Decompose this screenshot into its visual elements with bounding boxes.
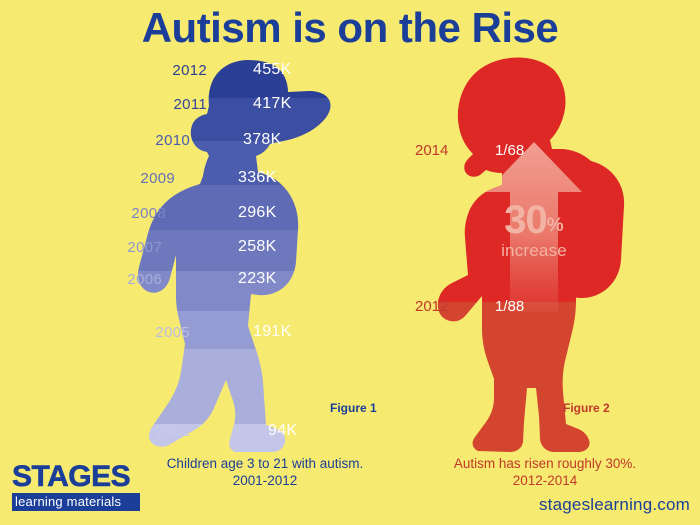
value-label-378k: 378K	[243, 131, 282, 149]
band-2006	[0, 311, 400, 349]
year-label-2008: 2008	[104, 205, 166, 222]
value-label-258k: 258K	[238, 238, 277, 256]
year-label-2014: 2014	[415, 142, 448, 159]
year-label-2001: 2001	[128, 423, 190, 440]
value-label-191k: 191K	[253, 323, 292, 341]
year-label-2007: 2007	[100, 239, 162, 256]
band-2010	[0, 141, 400, 185]
band-2007	[0, 271, 400, 311]
year-label-2012: 2012	[145, 62, 207, 79]
value-label-296k: 296K	[238, 204, 277, 222]
value-label-1-68: 1/68	[495, 142, 524, 159]
figure-1-tag: Figure 1	[330, 401, 377, 415]
stages-logo[interactable]: STAGES learning materials	[12, 462, 140, 511]
red-child-silhouette	[390, 52, 700, 452]
left-figure-panel: 2012 2011 2010 2009 2008 2007 2006 2005 …	[0, 52, 400, 452]
year-label-2011: 2011	[145, 96, 207, 113]
band-2012	[390, 302, 700, 452]
year-label-2005: 2005	[128, 324, 190, 341]
value-label-455k: 455K	[253, 61, 292, 79]
left-figure-caption: Children age 3 to 21 with autism. 2001-2…	[120, 455, 410, 489]
value-label-336k: 336K	[238, 169, 277, 187]
right-figure-panel: 2014 1/68 2012 1/88	[390, 52, 700, 452]
band-2009	[0, 185, 400, 230]
year-label-2010: 2010	[128, 132, 190, 149]
value-label-417k: 417K	[253, 95, 292, 113]
page-title: Autism is on the Rise	[0, 2, 700, 54]
figure-2-tag: Figure 2	[563, 401, 610, 415]
website-url[interactable]: stageslearning.com	[539, 495, 690, 515]
logo-wordmark: STAGES	[12, 462, 140, 492]
year-label-2006: 2006	[100, 271, 162, 288]
value-label-223k: 223K	[238, 270, 277, 288]
value-label-94k: 94K	[268, 422, 297, 440]
value-label-1-88: 1/88	[495, 298, 524, 315]
red-figure-bands	[390, 52, 700, 452]
year-label-2009: 2009	[113, 170, 175, 187]
infographic-root: Autism is on the Rise	[0, 0, 700, 525]
year-label-2012: 2012	[415, 298, 448, 315]
right-figure-caption: Autism has risen roughly 30%. 2012-2014	[400, 455, 690, 489]
band-2008	[0, 230, 400, 271]
band-2001	[0, 424, 400, 452]
logo-tagline: learning materials	[12, 493, 140, 511]
